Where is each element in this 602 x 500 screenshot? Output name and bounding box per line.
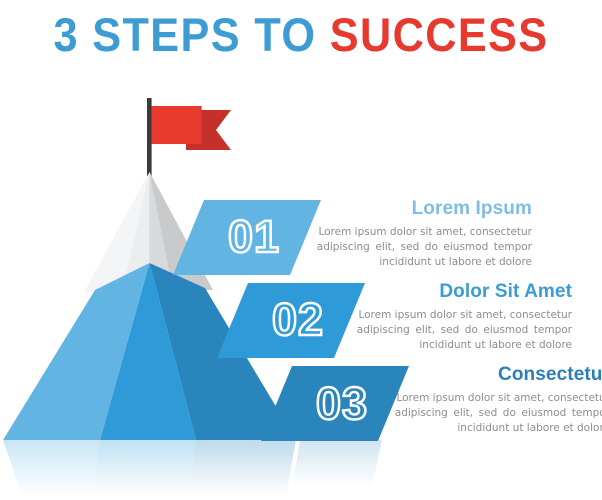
infographic-canvas: 3 STEPS TO SUCCESS [0,0,602,500]
reflection-center [92,440,196,496]
step-body-2-line-1: Lorem ipsum dolor sit amet, consectetur [340,308,572,323]
step-body-1-line-3: incididunt ut labore et dolore [300,255,532,270]
reflection-left [3,440,100,496]
flag-group [147,98,231,176]
reflection-right [190,440,296,496]
step-body-2-line-3: incididunt ut labore et dolore [340,338,572,353]
step-heading-1: Lorem Ipsum [300,198,532,220]
step-body-2: Lorem ipsum dolor sit amet, consectetur … [340,308,572,353]
step-heading-3: Consectetur [378,364,602,386]
step-text-block-3: Consectetur Lorem ipsum dolor sit amet, … [378,364,602,436]
step-body-3: Lorem ipsum dolor sit amet, consectetur … [378,391,602,436]
reflection-banner [292,440,382,487]
step-body-1-line-1: Lorem ipsum dolor sit amet, consectetur [300,225,532,240]
step-body-1-line-2: adipiscing elit, sed do eiusmod tempor [300,240,532,255]
step-text-block-1: Lorem Ipsum Lorem ipsum dolor sit amet, … [300,198,532,270]
step-text-block-2: Dolor Sit Amet Lorem ipsum dolor sit ame… [340,281,572,353]
step-heading-2: Dolor Sit Amet [340,281,572,303]
flag-pole-icon [147,98,152,176]
step-number-03: 03 [316,381,368,426]
step-body-3-line-2: adipiscing elit, sed do eiusmod tempor [378,406,602,421]
step-body-3-line-3: incididunt ut labore et dolore [378,421,602,436]
flag-body-extension-icon [152,106,202,144]
step-body-2-line-2: adipiscing elit, sed do eiusmod tempor [340,323,572,338]
step-body-1: Lorem ipsum dolor sit amet, consectetur … [300,225,532,270]
step-number-01: 01 [228,214,280,259]
step-number-02: 02 [272,297,324,342]
mountain-reflection-group [3,440,382,496]
step-body-3-line-1: Lorem ipsum dolor sit amet, consectetur [378,391,602,406]
